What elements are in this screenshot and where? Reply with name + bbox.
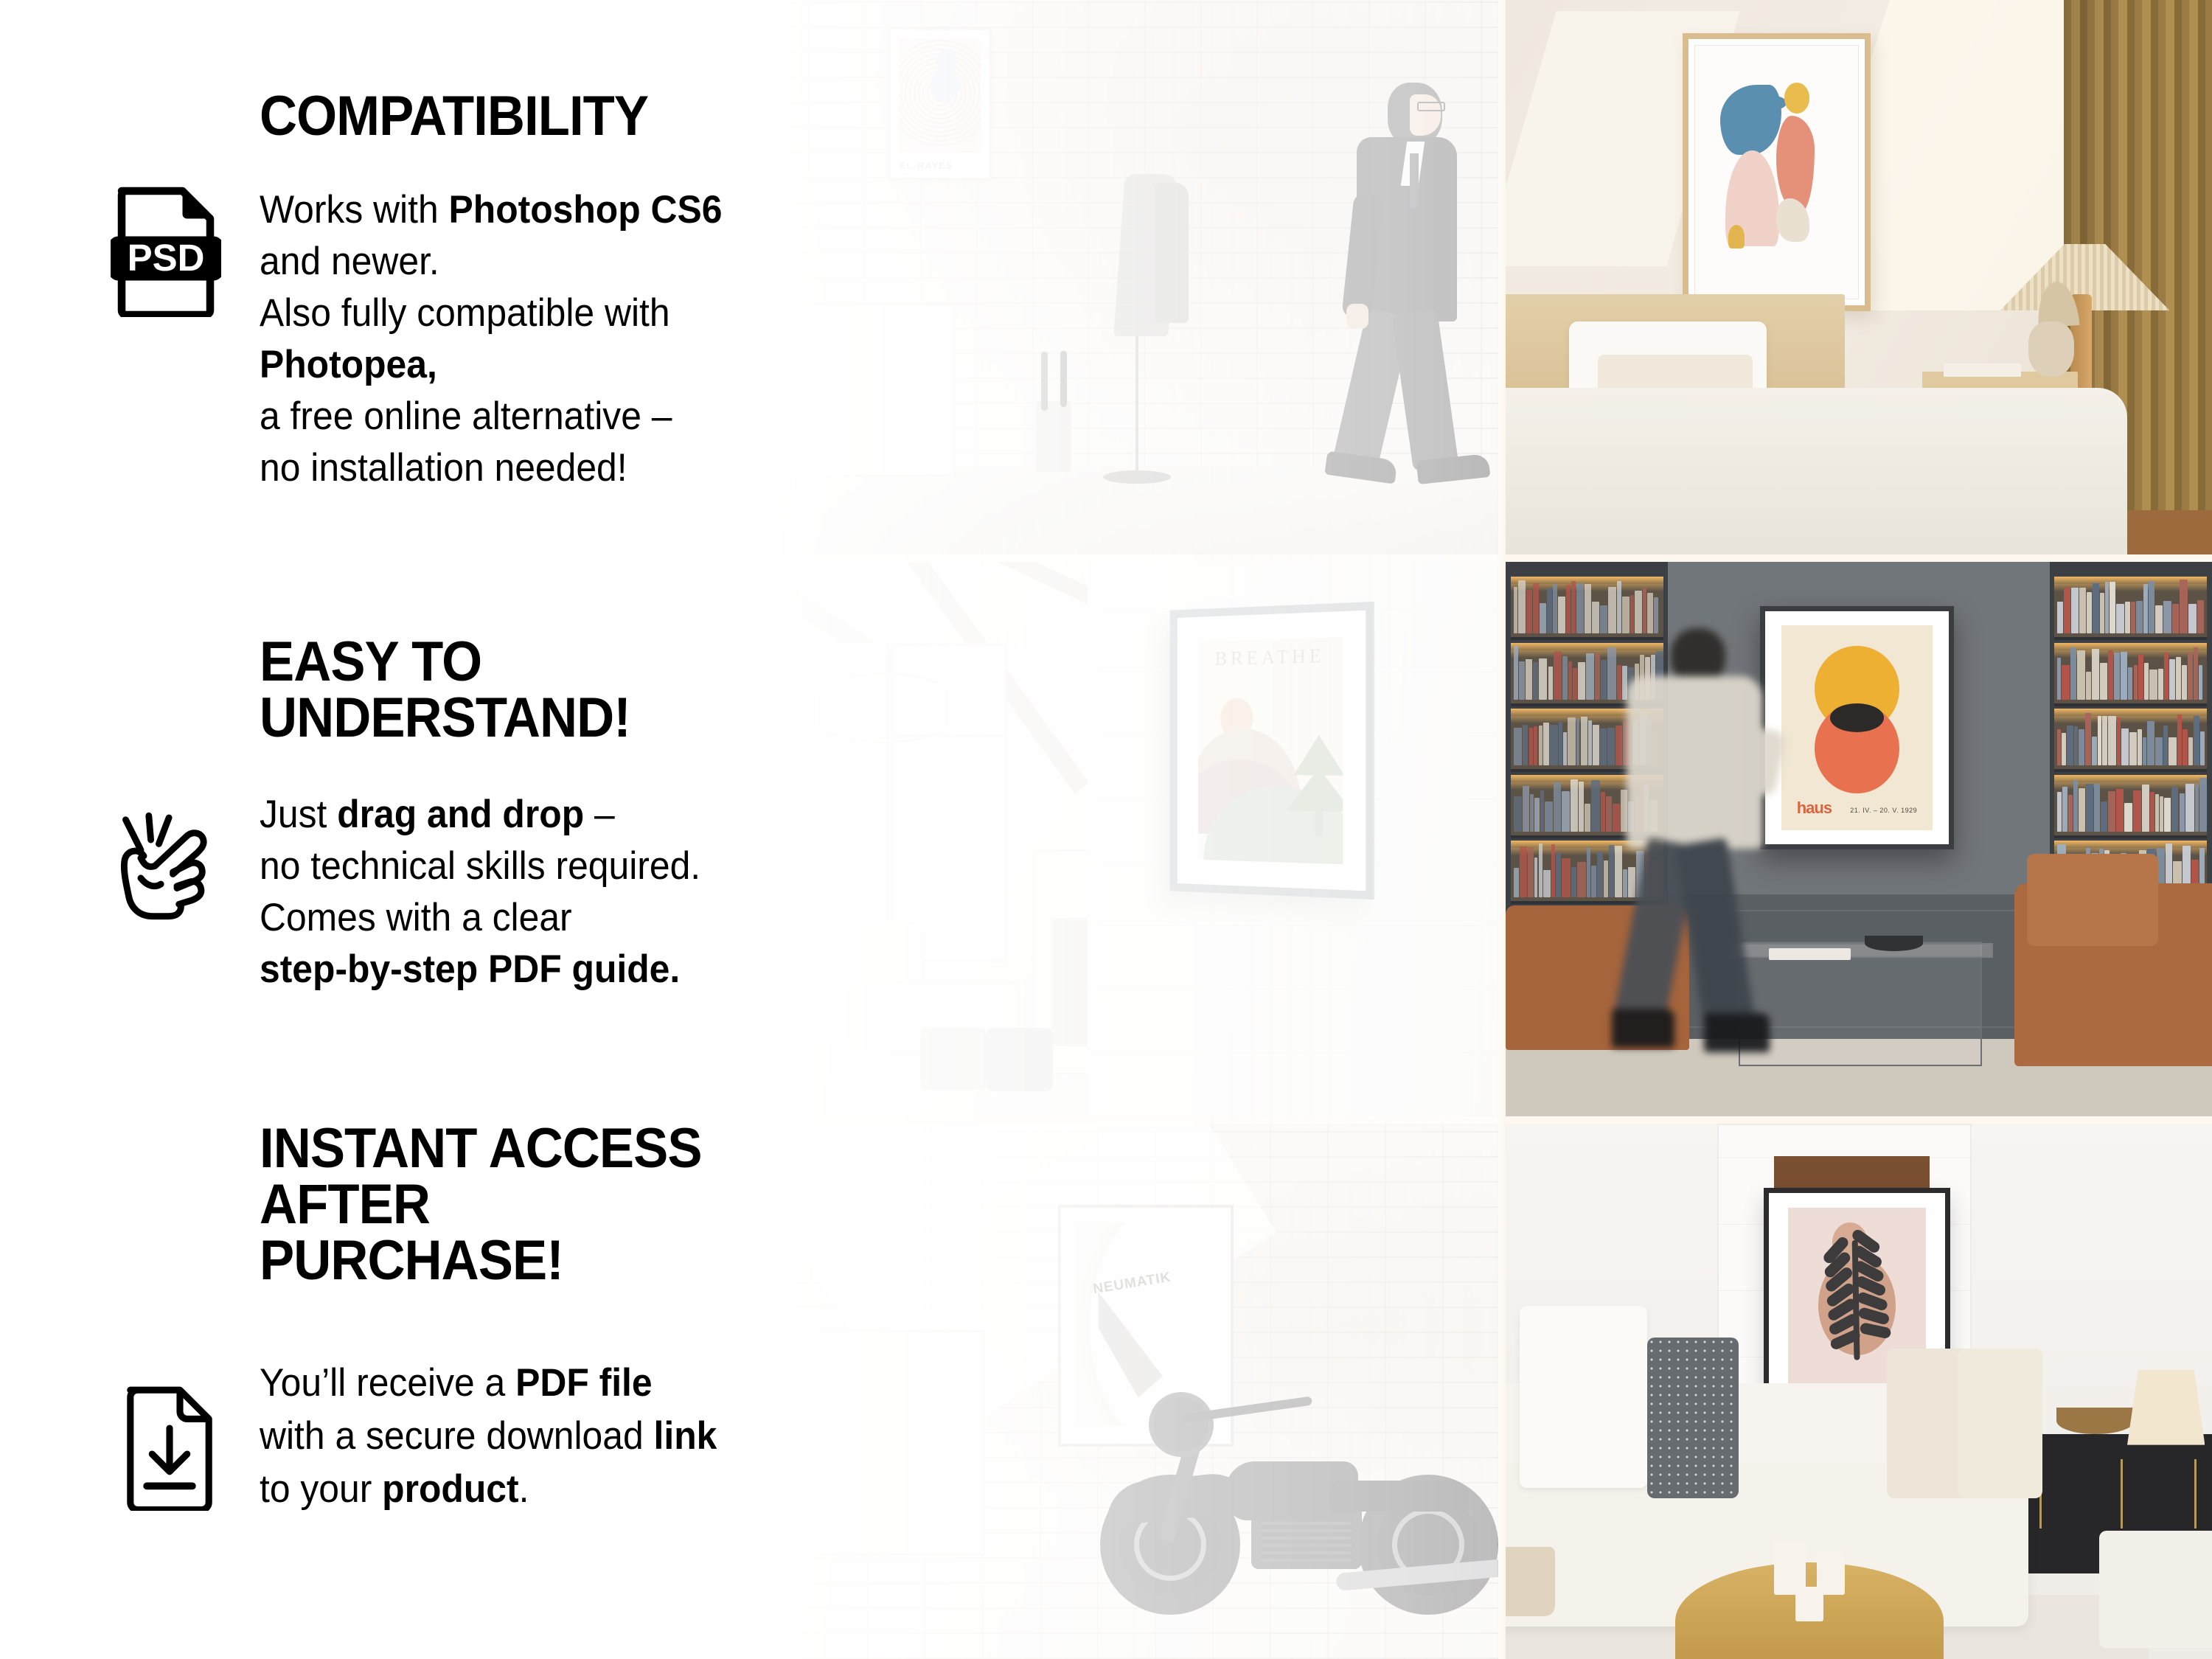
book bbox=[2086, 784, 2093, 832]
book bbox=[1571, 867, 1577, 897]
book bbox=[1571, 779, 1578, 832]
book bbox=[2092, 649, 2100, 700]
book bbox=[1534, 726, 1538, 765]
line-2-b: link bbox=[654, 1414, 717, 1458]
book bbox=[2199, 665, 2202, 700]
book bbox=[2057, 729, 2061, 765]
book bbox=[1585, 584, 1591, 634]
book bbox=[1571, 581, 1576, 633]
finger-snap-icon-wrap bbox=[0, 789, 260, 927]
book bbox=[2188, 652, 2193, 700]
book bbox=[2155, 605, 2163, 633]
line-2-a: with a secure download bbox=[260, 1414, 654, 1458]
book bbox=[2114, 653, 2120, 700]
book bbox=[1540, 790, 1544, 832]
poster-haus: haus 21. IV. – 20. V. 1929 bbox=[1760, 606, 1954, 849]
copy-panel: COMPATIBILITY PSD Works with Photoshop C… bbox=[0, 0, 782, 1659]
body-easy-to-understand: Just drag and drop –no technical skills … bbox=[260, 789, 700, 995]
line-4: a free online alternative – bbox=[260, 394, 672, 438]
body-instant-access: You’ll receive a PDF filewith a secure d… bbox=[260, 1357, 717, 1516]
book bbox=[2077, 650, 2085, 699]
book bbox=[2180, 793, 2185, 832]
book bbox=[1534, 858, 1538, 897]
book bbox=[1588, 720, 1592, 765]
book bbox=[1547, 588, 1552, 634]
book bbox=[2163, 601, 2171, 634]
download-document-icon bbox=[118, 1382, 221, 1511]
book bbox=[2194, 647, 2198, 700]
body-compatibility: Works with Photoshop CS6and newer.Also f… bbox=[260, 184, 751, 494]
psd-file-icon-wrap: PSD bbox=[0, 184, 260, 317]
book bbox=[1573, 668, 1577, 700]
book bbox=[2133, 790, 2140, 831]
download-document-icon-wrap bbox=[0, 1357, 260, 1511]
book bbox=[2136, 601, 2143, 633]
book bbox=[2128, 667, 2132, 700]
book bbox=[2168, 737, 2177, 766]
book bbox=[1576, 583, 1584, 633]
book bbox=[2188, 737, 2193, 765]
book bbox=[2164, 798, 2171, 832]
promo-banner: EL-RAYES PARIS BREATHE bbox=[0, 0, 2212, 1659]
poster-el-rayes: EL-RAYES PARIS bbox=[888, 28, 991, 180]
book bbox=[2064, 588, 2070, 634]
book bbox=[1578, 662, 1585, 700]
book bbox=[2195, 784, 2199, 832]
poster-breathe-title: BREATHE bbox=[1198, 644, 1343, 670]
book bbox=[2108, 791, 2115, 832]
book bbox=[2129, 732, 2137, 766]
section-easy-to-understand: EASY TO UNDERSTAND! bbox=[0, 634, 782, 995]
book bbox=[1595, 653, 1600, 700]
book bbox=[1566, 585, 1570, 634]
book bbox=[1545, 801, 1552, 832]
book bbox=[2108, 650, 2113, 700]
book bbox=[2163, 726, 2168, 765]
book bbox=[1514, 646, 1518, 700]
book bbox=[2073, 780, 2078, 832]
book bbox=[1554, 651, 1562, 700]
psd-icon-label: PSD bbox=[128, 237, 205, 279]
book bbox=[1558, 597, 1565, 633]
line-1-c: – bbox=[584, 793, 615, 836]
bookshelf-shelf bbox=[2054, 775, 2207, 838]
heading-line-1: INSTANT ACCESS bbox=[260, 1117, 702, 1180]
book bbox=[1514, 868, 1519, 897]
line-1-b: PDF file bbox=[515, 1361, 652, 1405]
book bbox=[2199, 778, 2207, 831]
motorcycle bbox=[1093, 1371, 1498, 1615]
book bbox=[1576, 718, 1580, 766]
book bbox=[2085, 713, 2090, 765]
book bbox=[2164, 653, 2168, 699]
book bbox=[1523, 725, 1528, 766]
book bbox=[2131, 602, 2135, 634]
book bbox=[2194, 716, 2199, 765]
book bbox=[1543, 723, 1549, 765]
book bbox=[2138, 655, 2143, 700]
book bbox=[2134, 665, 2138, 700]
book bbox=[1540, 603, 1546, 634]
book bbox=[1551, 844, 1555, 897]
book bbox=[1554, 782, 1561, 831]
book bbox=[2143, 737, 2146, 765]
businessman-figure bbox=[1299, 83, 1484, 495]
book bbox=[2125, 602, 2130, 633]
poster-haus-date: 21. IV. – 20. V. 1929 bbox=[1850, 807, 1917, 814]
book bbox=[1539, 726, 1543, 765]
line-1-a: Works with bbox=[260, 188, 449, 232]
book bbox=[2149, 581, 2154, 634]
book bbox=[2149, 669, 2157, 700]
book bbox=[2116, 789, 2124, 831]
book bbox=[1592, 602, 1599, 634]
book bbox=[2070, 647, 2076, 700]
book bbox=[2062, 733, 2066, 766]
book bbox=[2117, 717, 2121, 765]
book bbox=[1563, 732, 1567, 765]
book bbox=[2150, 792, 2154, 832]
book bbox=[2098, 716, 2101, 765]
book bbox=[2200, 731, 2205, 766]
book bbox=[1585, 804, 1590, 832]
book bbox=[2079, 588, 2086, 634]
finger-snap-icon bbox=[111, 805, 221, 927]
poster-matisse-bedroom bbox=[1683, 33, 1871, 311]
psd-file-icon: PSD bbox=[111, 184, 221, 317]
book bbox=[1568, 661, 1573, 700]
book bbox=[2086, 672, 2090, 700]
book bbox=[2100, 593, 2104, 633]
book bbox=[2155, 737, 2163, 766]
book bbox=[1530, 794, 1534, 832]
book bbox=[2093, 583, 2099, 633]
book bbox=[1526, 659, 1531, 699]
book bbox=[2092, 737, 2097, 765]
book bbox=[2158, 669, 2163, 700]
book bbox=[1647, 593, 1653, 633]
book bbox=[2121, 728, 2129, 765]
bookshelf-shelf bbox=[2054, 709, 2207, 772]
book bbox=[2188, 604, 2197, 633]
line-3-b: Photopea, bbox=[260, 343, 437, 386]
book bbox=[2087, 592, 2091, 633]
heading-compatibility: COMPATIBILITY bbox=[260, 88, 745, 145]
leaf-frond bbox=[1860, 1323, 1892, 1340]
heading-line-2: AFTER PURCHASE! bbox=[260, 1173, 563, 1292]
book bbox=[1514, 796, 1522, 832]
book bbox=[2143, 584, 2148, 633]
book bbox=[1562, 858, 1571, 897]
book bbox=[1562, 656, 1568, 700]
book bbox=[1591, 866, 1596, 897]
book bbox=[1608, 587, 1616, 634]
line-1-a: You’ll receive a bbox=[260, 1361, 515, 1405]
book bbox=[1643, 588, 1646, 634]
book bbox=[1591, 780, 1599, 832]
line-1-a: Just bbox=[260, 793, 337, 836]
book bbox=[1548, 667, 1553, 700]
book bbox=[1539, 658, 1547, 700]
book bbox=[2079, 788, 2085, 831]
book bbox=[1617, 581, 1621, 634]
poster-breathe: BREATHE bbox=[1170, 602, 1374, 900]
shelf-light bbox=[2054, 709, 2207, 723]
line-3: Comes with a clear bbox=[260, 896, 572, 939]
book bbox=[2057, 792, 2061, 832]
book bbox=[2074, 726, 2078, 765]
book bbox=[1562, 791, 1570, 832]
book bbox=[1519, 661, 1526, 699]
book bbox=[2116, 604, 2124, 634]
line-3-b: product bbox=[382, 1467, 518, 1511]
book bbox=[1523, 786, 1530, 832]
line-1-b: drag and drop bbox=[337, 793, 584, 836]
book bbox=[1597, 852, 1603, 898]
line-3-c: . bbox=[519, 1467, 529, 1511]
book bbox=[1529, 728, 1533, 765]
book bbox=[2121, 652, 2127, 700]
book bbox=[1528, 847, 1534, 897]
book bbox=[2105, 582, 2110, 633]
book bbox=[2100, 663, 2107, 700]
book bbox=[2102, 716, 2107, 765]
book bbox=[2108, 716, 2115, 765]
walking-man-figure bbox=[1604, 628, 1788, 1061]
bookshelf-shelf bbox=[2054, 577, 2207, 640]
book bbox=[1514, 728, 1522, 765]
heading-easy-to-understand: EASY TO UNDERSTAND! bbox=[260, 634, 745, 746]
book bbox=[1539, 844, 1543, 897]
book bbox=[2185, 784, 2194, 831]
book bbox=[1579, 782, 1584, 832]
book bbox=[1635, 591, 1642, 634]
line-3-a: Also fully compatible with bbox=[260, 291, 670, 335]
book bbox=[2138, 729, 2142, 765]
photo-office-brick-businessman: EL-RAYES PARIS bbox=[752, 0, 1498, 554]
book bbox=[2197, 600, 2204, 633]
book bbox=[2124, 803, 2132, 832]
book bbox=[1559, 722, 1562, 766]
book bbox=[2101, 801, 2107, 832]
photo-library-walking-man: haus 21. IV. – 20. V. 1929 bbox=[1506, 562, 2212, 1116]
book bbox=[1553, 584, 1557, 633]
line-1-b: Photoshop CS6 bbox=[449, 188, 723, 232]
book bbox=[2180, 580, 2188, 633]
line-4: step-by-step PDF guide. bbox=[260, 947, 680, 991]
photo-bedroom bbox=[1506, 0, 2212, 554]
book bbox=[1556, 853, 1562, 897]
book bbox=[2071, 588, 2079, 633]
book bbox=[2068, 795, 2073, 832]
book bbox=[1550, 725, 1558, 765]
book bbox=[2171, 787, 2179, 832]
line-2: no technical skills required. bbox=[260, 844, 700, 888]
heading-instant-access: INSTANT ACCESSAFTER PURCHASE! bbox=[260, 1121, 745, 1289]
book bbox=[1533, 662, 1538, 700]
poster-haus-title: haus bbox=[1797, 799, 1832, 818]
line-3-a: to your bbox=[260, 1467, 382, 1511]
book bbox=[2079, 729, 2084, 765]
book bbox=[1568, 717, 1575, 765]
book bbox=[2057, 602, 2063, 633]
poster-el-rayes-title: EL-RAYES bbox=[900, 160, 953, 171]
book bbox=[1526, 590, 1533, 634]
book bbox=[2057, 658, 2061, 700]
book bbox=[2177, 714, 2182, 766]
section-instant-access: INSTANT ACCESSAFTER PURCHASE! You’ll rec… bbox=[0, 1121, 782, 1516]
book bbox=[2183, 729, 2188, 765]
photo-living-room bbox=[1506, 1124, 2212, 1659]
line-5: no installation needed! bbox=[260, 446, 627, 490]
section-compatibility: COMPATIBILITY PSD Works with Photoshop C… bbox=[0, 88, 782, 494]
book bbox=[1587, 848, 1591, 898]
photo-vaulted-living-room: BREATHE bbox=[752, 562, 1498, 1116]
book bbox=[2169, 659, 2175, 700]
bookshelf-shelf bbox=[2054, 643, 2207, 706]
book bbox=[1543, 870, 1551, 898]
book bbox=[1514, 587, 1517, 633]
book bbox=[2147, 721, 2155, 766]
book bbox=[1533, 583, 1539, 634]
book bbox=[2094, 784, 2100, 832]
book bbox=[1586, 653, 1594, 700]
book bbox=[2067, 726, 2073, 765]
book bbox=[1518, 580, 1526, 634]
book bbox=[1577, 862, 1585, 897]
book bbox=[2160, 796, 2163, 832]
book bbox=[2182, 665, 2187, 700]
poster-el-rayes-subtitle: PARIS bbox=[900, 172, 912, 176]
book bbox=[2062, 665, 2069, 700]
book bbox=[2172, 604, 2179, 634]
photo-garage-motorcycle: NEUMATIK bbox=[752, 1124, 1498, 1659]
book bbox=[2110, 582, 2115, 633]
book bbox=[1581, 717, 1588, 765]
book bbox=[2142, 785, 2149, 832]
line-2: and newer. bbox=[260, 240, 439, 283]
book bbox=[2144, 663, 2149, 700]
book bbox=[2155, 794, 2159, 832]
book bbox=[1520, 846, 1527, 898]
book bbox=[2176, 657, 2181, 700]
book bbox=[2062, 787, 2068, 832]
book bbox=[1534, 798, 1540, 832]
book bbox=[1593, 725, 1599, 765]
